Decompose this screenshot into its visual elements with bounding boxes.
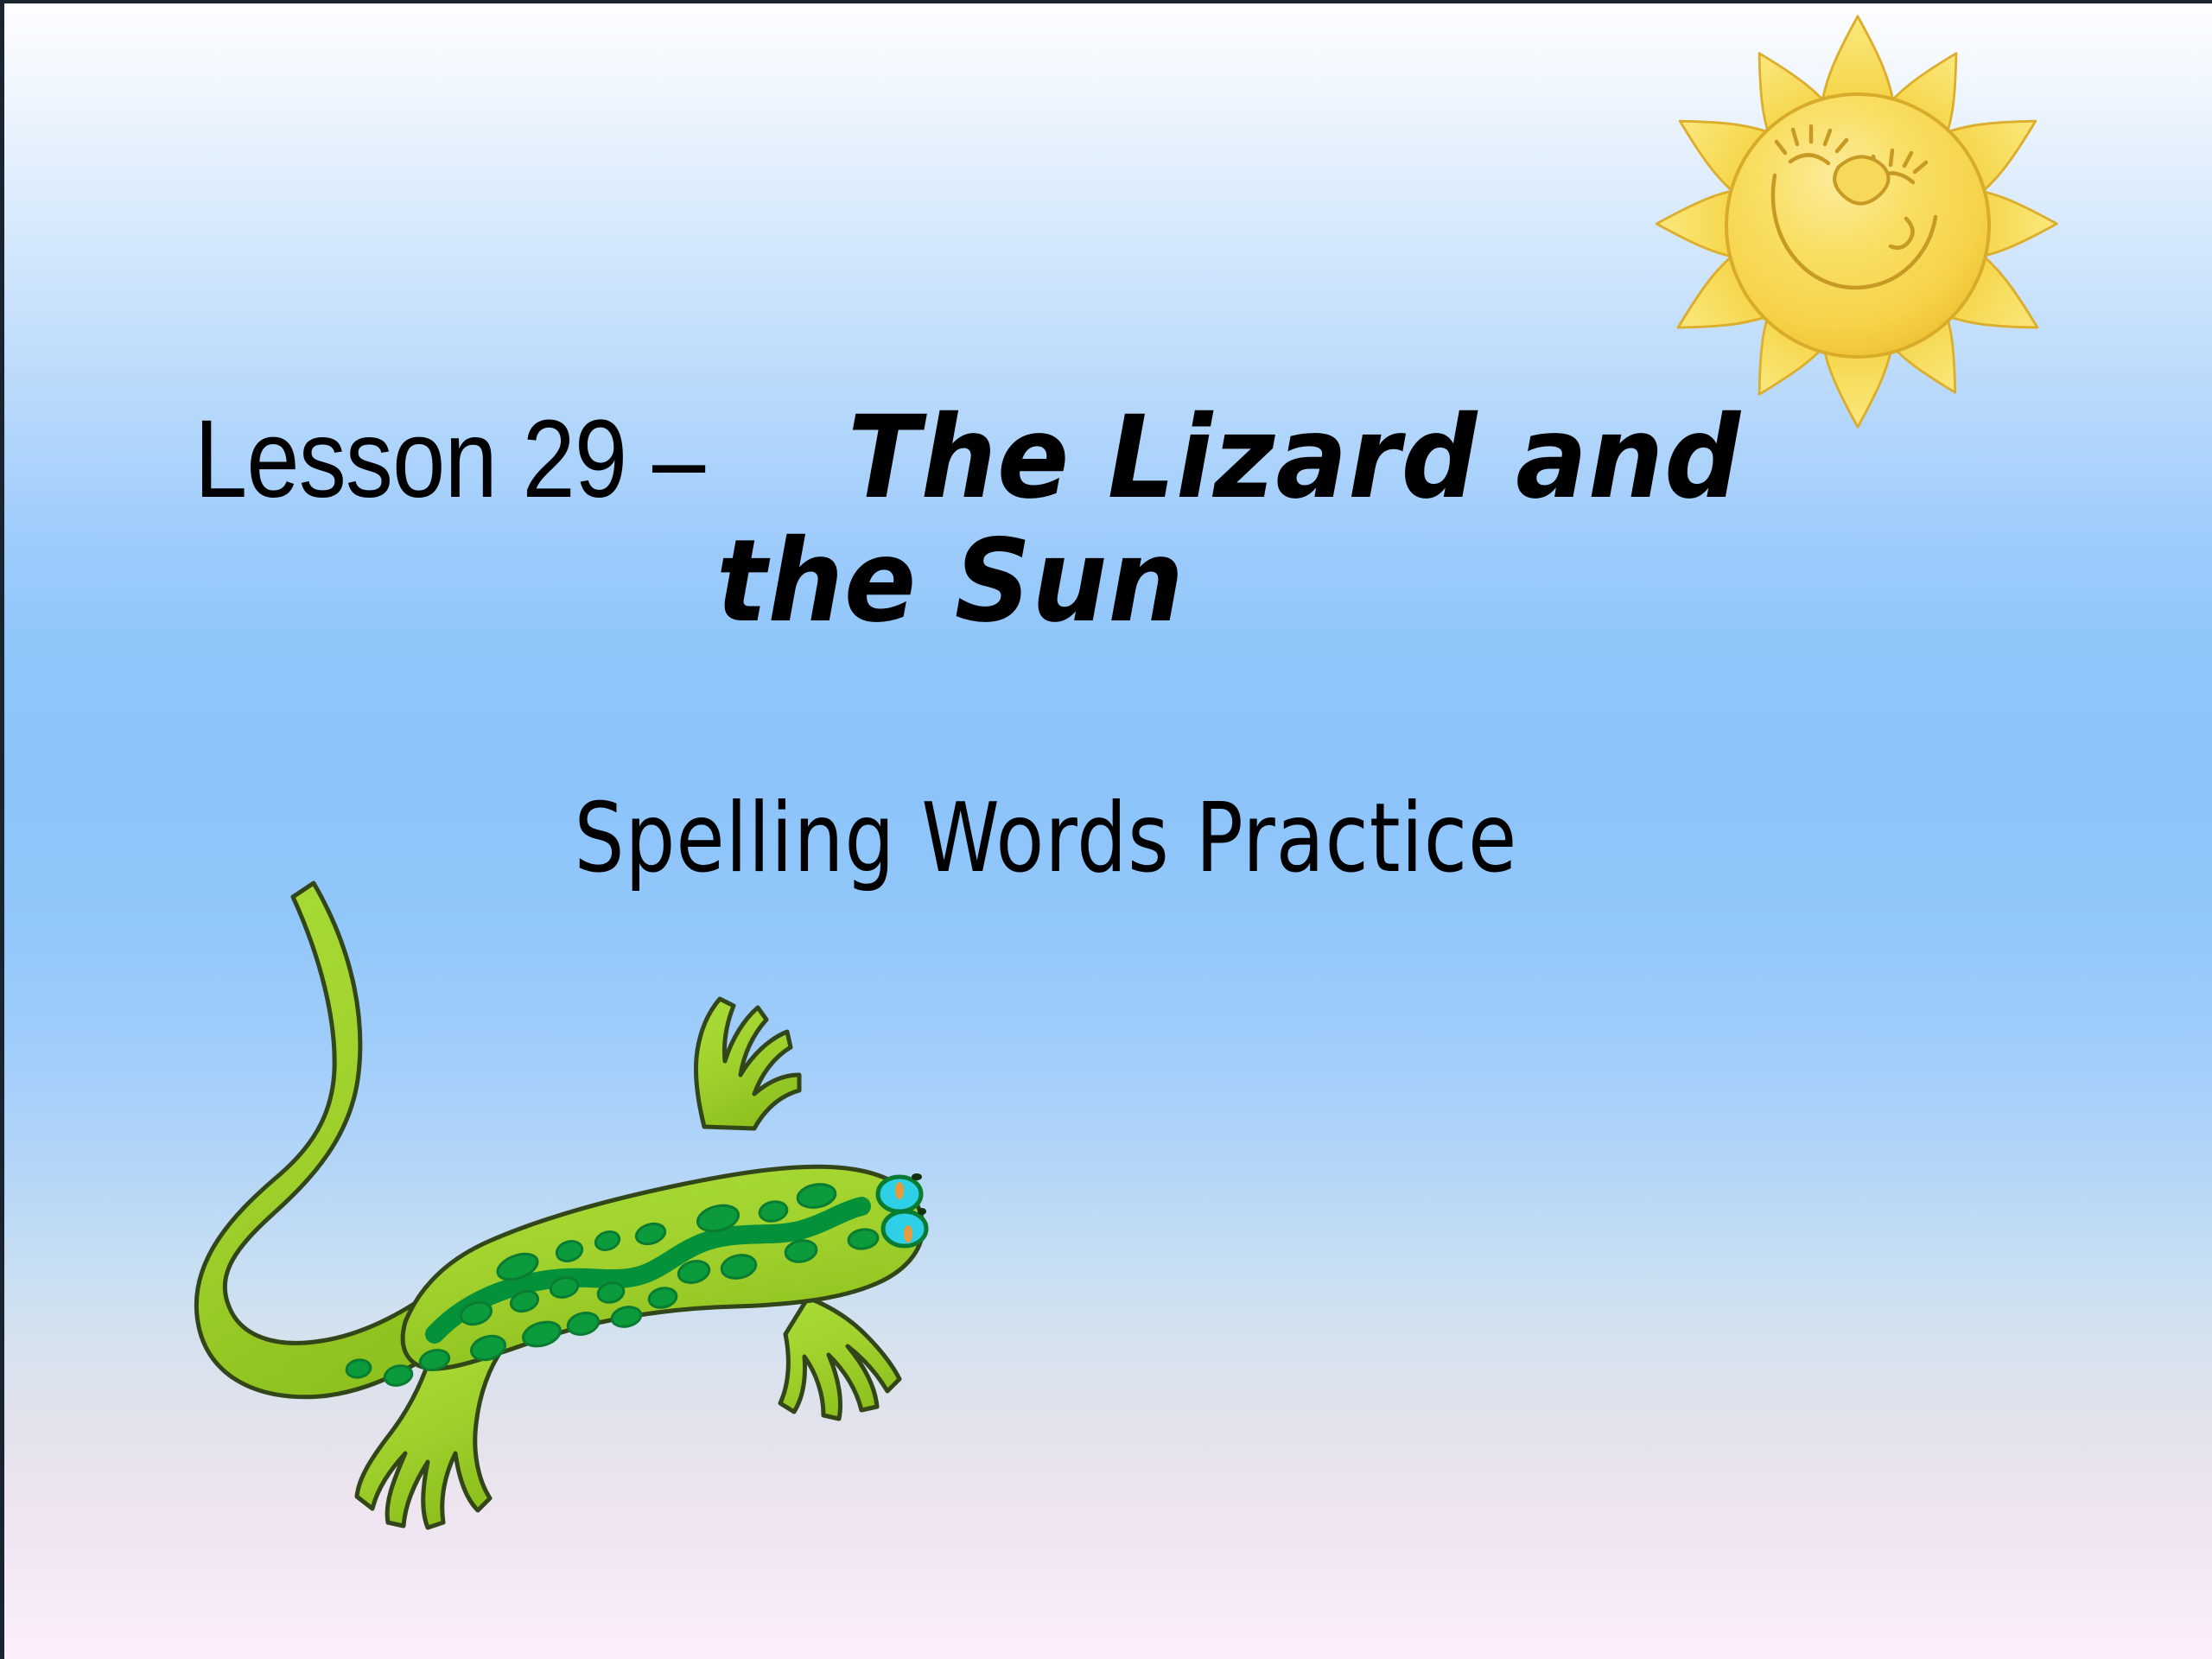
title-slide: Lesson 29 –The Lizard and the Sun Spelli… (0, 0, 2212, 1659)
smiling-sun-icon (1637, 8, 2078, 440)
title-line-2: the Sun (134, 520, 2087, 644)
title-line-1: Lesson 29 –The Lizard and (134, 397, 2087, 520)
story-title-line-2: the Sun (716, 520, 1185, 644)
subtitle: Spelling Words Practice (134, 785, 2087, 891)
green-lizard-icon (220, 868, 938, 1550)
page-title: Lesson 29 –The Lizard and the Sun (134, 397, 2087, 643)
story-title-line-1: The Lizard and (848, 397, 1741, 520)
lesson-label: Lesson 29 – (194, 400, 704, 519)
subtitle-text: Spelling Words Practice (574, 782, 1517, 893)
